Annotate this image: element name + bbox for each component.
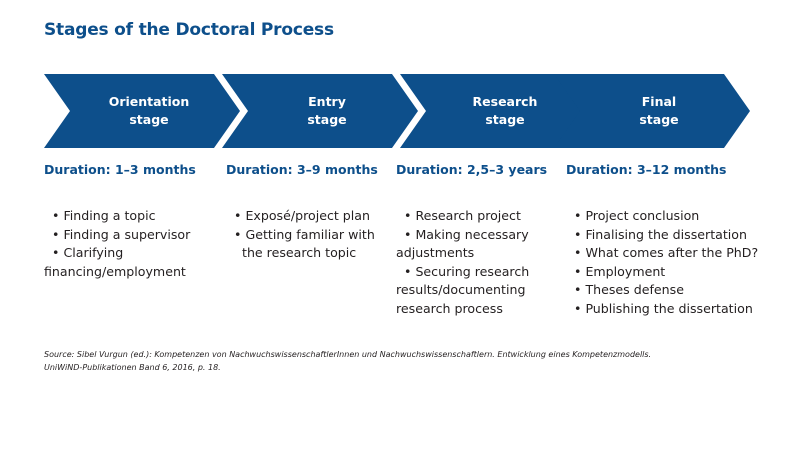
list-item: Getting familiar with the research topic: [226, 226, 391, 263]
list-item: Finding a topic: [44, 207, 222, 226]
list-item: Exposé/project plan: [226, 207, 391, 226]
source-citation-line-1: Source: Sibel Vurgun (ed.): Kompetenzen …: [44, 349, 744, 362]
stage-chevron-label: Orientation stage: [95, 93, 190, 129]
stage-duration-entry: Duration: 3–9 months: [226, 162, 391, 177]
stage-chevron-entry[interactable]: Entry stage: [222, 74, 418, 148]
stage-column-orientation: Duration: 1–3 months Finding a topic Fin…: [44, 162, 222, 281]
list-item: Finding a supervisor: [44, 226, 222, 245]
list-item: Finalising the dissertation: [566, 226, 766, 245]
stage-chevron-final[interactable]: Final stage: [554, 74, 750, 148]
list-item: Research project: [396, 207, 546, 226]
stage-chevron-label: Entry stage: [293, 93, 346, 129]
stage-bullet-list-research: Research project Making necessary adjust…: [396, 207, 546, 318]
list-item: Theses defense: [566, 281, 766, 300]
stage-column-research: Duration: 2,5–3 years Research project M…: [396, 162, 546, 318]
list-item: Securing research results/documenting re…: [396, 263, 546, 319]
list-item: Clarifying financing/employment: [44, 244, 222, 281]
stage-bullet-list-final: Project conclusion Finalising the disser…: [566, 207, 766, 318]
stage-duration-final: Duration: 3–12 months: [566, 162, 766, 177]
source-citation: Source: Sibel Vurgun (ed.): Kompetenzen …: [44, 349, 744, 375]
stage-bullet-list-entry: Exposé/project plan Getting familiar wit…: [226, 207, 391, 263]
list-item: Publishing the dissertation: [566, 300, 766, 319]
stage-chevron-label: Research stage: [459, 93, 538, 129]
page-title: Stages of the Doctoral Process: [44, 20, 334, 40]
list-item: Employment: [566, 263, 766, 282]
stage-chevron-band: Orientation stage Entry stage Research s…: [0, 74, 800, 148]
stage-duration-research: Duration: 2,5–3 years: [396, 162, 546, 177]
list-item: Project conclusion: [566, 207, 766, 226]
stage-column-entry: Duration: 3–9 months Exposé/project plan…: [226, 162, 391, 263]
stage-bullet-list-orientation: Finding a topic Finding a supervisor Cla…: [44, 207, 222, 281]
stage-column-final: Duration: 3–12 months Project conclusion…: [566, 162, 766, 318]
stage-duration-orientation: Duration: 1–3 months: [44, 162, 222, 177]
source-citation-line-2: UniWiND-Publikationen Band 6, 2016, p. 1…: [44, 362, 744, 375]
list-item: What comes after the PhD?: [566, 244, 766, 263]
stage-chevron-orientation[interactable]: Orientation stage: [44, 74, 240, 148]
list-item: Making necessary adjustments: [396, 226, 546, 263]
slide-canvas: Stages of the Doctoral Process Orientati…: [0, 0, 800, 450]
stage-chevron-label: Final stage: [625, 93, 678, 129]
